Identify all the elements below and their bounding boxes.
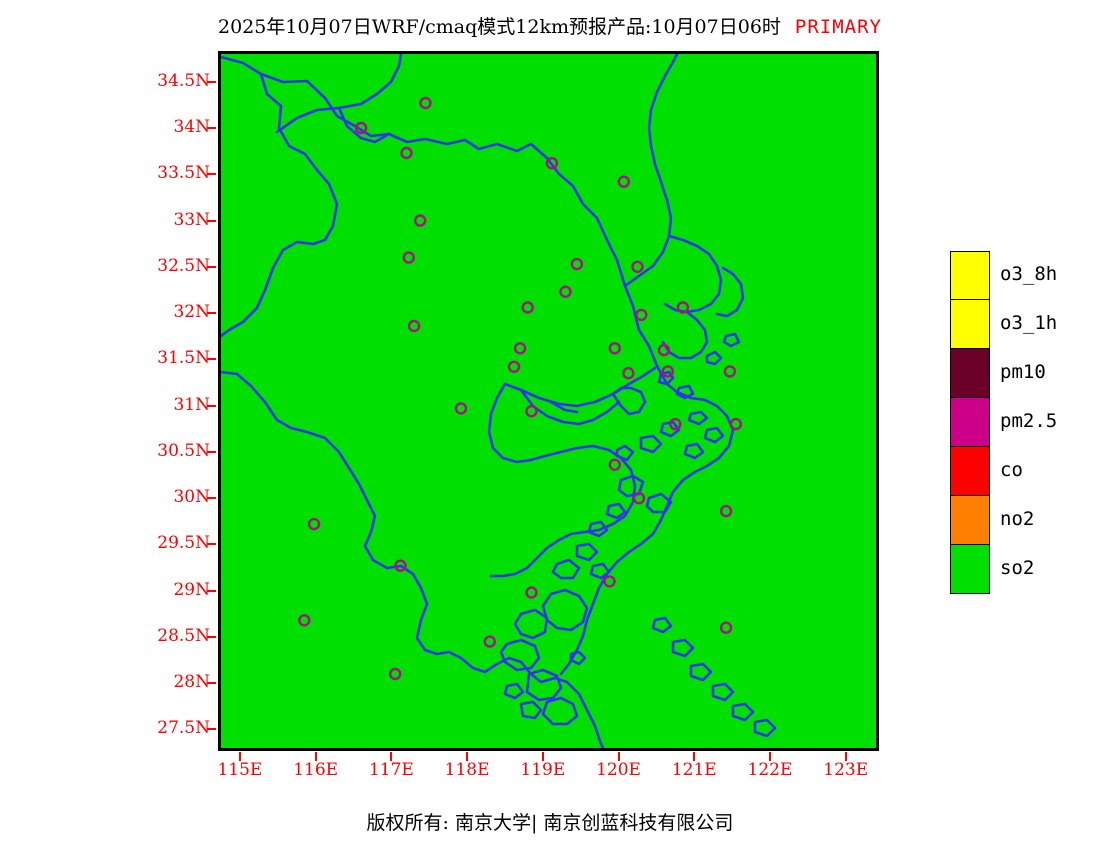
map-plot-area[interactable] <box>218 51 879 751</box>
station-marker[interactable] <box>515 343 525 353</box>
station-marker[interactable] <box>610 343 620 353</box>
legend-color-swatch <box>950 300 990 349</box>
station-marker[interactable] <box>390 669 400 679</box>
station-marker[interactable] <box>619 177 629 187</box>
x-axis-tick-label: 122E <box>730 762 810 779</box>
y-axis-tick-mark <box>207 405 216 407</box>
station-marker[interactable] <box>404 253 414 263</box>
station-marker[interactable] <box>731 419 741 429</box>
title-main-text: 2025年10月07日WRF/cmaq模式12km预报产品:10月07日06时 <box>218 16 781 38</box>
station-marker[interactable] <box>485 637 495 647</box>
legend-item-no2[interactable]: no2 <box>950 496 1095 545</box>
station-marker[interactable] <box>636 310 646 320</box>
y-axis-tick-mark <box>207 220 216 222</box>
x-axis-tick-label: 119E <box>503 762 583 779</box>
station-marker[interactable] <box>623 368 633 378</box>
legend-label: so2 <box>1000 557 1034 579</box>
y-axis-tick-label: 34.5N <box>140 73 210 90</box>
y-axis-tick-mark <box>207 358 216 360</box>
station-marker[interactable] <box>721 506 731 516</box>
y-axis-tick-label: 31.5N <box>140 350 210 367</box>
y-axis-tick-mark <box>207 266 216 268</box>
x-axis-tick-label: 116E <box>276 762 356 779</box>
y-axis-tick-label: 28N <box>140 674 210 691</box>
station-marker[interactable] <box>421 98 431 108</box>
x-axis-tick-label: 118E <box>427 762 507 779</box>
station-marker[interactable] <box>523 303 533 313</box>
station-marker[interactable] <box>509 362 519 372</box>
station-marker[interactable] <box>561 287 571 297</box>
legend-color-swatch <box>950 447 990 496</box>
x-axis-tick-mark <box>542 752 544 761</box>
legend-color-swatch <box>950 398 990 447</box>
legend-color-swatch <box>950 349 990 398</box>
x-axis-tick-label: 115E <box>200 762 280 779</box>
legend-label: o3_1h <box>1000 312 1057 334</box>
y-axis-tick-label: 34N <box>140 119 210 136</box>
legend-item-o38h[interactable]: o3_8h <box>950 251 1095 300</box>
x-axis-tick-mark <box>466 752 468 761</box>
station-marker[interactable] <box>415 216 425 226</box>
x-axis-tick-mark <box>315 752 317 761</box>
station-marker[interactable] <box>605 576 615 586</box>
station-marker[interactable] <box>725 366 735 376</box>
x-axis-tick-label: 117E <box>351 762 431 779</box>
legend-item-pm10[interactable]: pm10 <box>950 349 1095 398</box>
station-marker[interactable] <box>456 403 466 413</box>
station-marker[interactable] <box>610 460 620 470</box>
legend-label: no2 <box>1000 508 1034 530</box>
y-axis-tick-mark <box>207 497 216 499</box>
y-axis-tick-mark <box>207 682 216 684</box>
legend-item-o31h[interactable]: o3_1h <box>950 300 1095 349</box>
x-axis-tick-label: 123E <box>806 762 886 779</box>
y-axis-tick-label: 31N <box>140 397 210 414</box>
copyright-footer: 版权所有: 南京大学| 南京创蓝科技有限公司 <box>0 808 1100 835</box>
x-axis-tick-label: 120E <box>579 762 659 779</box>
x-axis-tick-mark <box>845 752 847 761</box>
y-axis-tick-label: 28.5N <box>140 628 210 645</box>
station-marker[interactable] <box>572 259 582 269</box>
legend-color-swatch <box>950 545 990 594</box>
y-axis-tick-mark <box>207 543 216 545</box>
x-axis-tick-mark <box>390 752 392 761</box>
legend-item-pm25[interactable]: pm2.5 <box>950 398 1095 447</box>
legend-color-swatch <box>950 251 990 300</box>
page-title: 2025年10月07日WRF/cmaq模式12km预报产品:10月07日06时P… <box>0 12 1100 40</box>
y-axis-tick-label: 32N <box>140 304 210 321</box>
y-axis-tick-mark <box>207 173 216 175</box>
y-axis-tick-mark <box>207 590 216 592</box>
x-axis-tick-label: 121E <box>654 762 734 779</box>
legend-item-co[interactable]: co <box>950 447 1095 496</box>
administrative-boundaries <box>221 54 775 748</box>
legend-label: co <box>1000 459 1023 481</box>
legend-label: o3_8h <box>1000 263 1057 285</box>
station-marker[interactable] <box>527 406 537 416</box>
y-axis-tick-label: 33.5N <box>140 165 210 182</box>
pollutant-legend[interactable]: o3_8ho3_1hpm10pm2.5cono2so2 <box>950 251 1095 594</box>
x-axis-tick-mark <box>618 752 620 761</box>
legend-item-so2[interactable]: so2 <box>950 545 1095 594</box>
y-axis-tick-label: 29.5N <box>140 535 210 552</box>
station-marker[interactable] <box>309 519 319 529</box>
x-axis-tick-mark <box>693 752 695 761</box>
legend-label: pm2.5 <box>1000 410 1057 432</box>
map-canvas <box>221 54 876 748</box>
y-axis-tick-label: 30.5N <box>140 443 210 460</box>
forecast-map-page: 2025年10月07日WRF/cmaq模式12km预报产品:10月07日06时P… <box>0 0 1100 850</box>
y-axis-tick-label: 32.5N <box>140 258 210 275</box>
y-axis-tick-mark <box>207 636 216 638</box>
station-marker[interactable] <box>402 148 412 158</box>
y-axis-tick-mark <box>207 127 216 129</box>
station-marker[interactable] <box>633 262 643 272</box>
legend-label: pm10 <box>1000 361 1046 383</box>
y-axis-tick-label: 29N <box>140 582 210 599</box>
title-primary-label: PRIMARY <box>795 16 882 38</box>
x-axis-tick-mark <box>769 752 771 761</box>
station-marker[interactable] <box>409 321 419 331</box>
y-axis-tick-mark <box>207 451 216 453</box>
y-axis-tick-label: 33N <box>140 212 210 229</box>
station-marker[interactable] <box>299 615 309 625</box>
station-marker[interactable] <box>721 623 731 633</box>
station-marker[interactable] <box>527 588 537 598</box>
y-axis-tick-mark <box>207 728 216 730</box>
y-axis-tick-label: 30N <box>140 489 210 506</box>
legend-color-swatch <box>950 496 990 545</box>
y-axis-tick-mark <box>207 312 216 314</box>
y-axis-tick-label: 27.5N <box>140 720 210 737</box>
x-axis-tick-mark <box>239 752 241 761</box>
y-axis-tick-mark <box>207 81 216 83</box>
